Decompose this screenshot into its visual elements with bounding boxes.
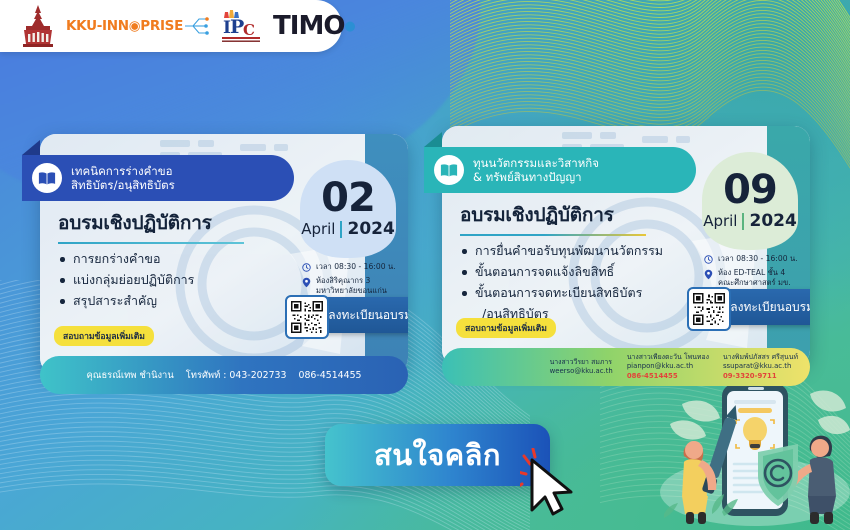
venue-line-2: คณะศึกษาศาสตร์ มข.: [718, 278, 791, 287]
card-patent-drafting[interactable]: อบรมเชิงปฏิบัติการ การยกร่างคำขอ แบ่งกลุ…: [40, 134, 408, 374]
ip-illustration: [660, 372, 850, 530]
clock-icon: [302, 263, 311, 272]
ribbon-line-2: สิทธิบัตร/อนุสิทธิบัตร: [71, 178, 175, 192]
event-time-row: เวลา 08:30 - 16:00 น.: [704, 254, 808, 264]
cta-button[interactable]: สนใจคลิก: [325, 424, 550, 486]
contact-email: pianpon@kku.ac.th: [627, 362, 709, 371]
list-item: สรุปสาระสำคัญ: [58, 293, 290, 309]
qr-code-icon: [693, 293, 725, 325]
event-day: 09: [723, 171, 777, 209]
contact-name: นางสาววีรยา สมภาร: [550, 358, 613, 367]
event-month: April: [703, 212, 737, 230]
event-time: เวลา 08:30 - 16:00 น.: [316, 262, 396, 272]
innoprise-label-2: PRISE: [140, 18, 183, 34]
list-item: แบ่งกลุ่มย่อยปฏิบัติการ: [58, 272, 290, 288]
event-time: เวลา 08:30 - 16:00 น.: [718, 254, 798, 264]
ribbon-line-1: ทุนนวัตกรรมและวิสาหกิจ: [473, 156, 599, 170]
clock-icon: [704, 255, 713, 264]
contact-email: weerso@kku.ac.th: [550, 367, 613, 376]
timo-logo: TIMO●: [273, 11, 355, 41]
ribbon-text: เทคนิคการร่างคำขอ สิทธิบัตร/อนุสิทธิบัตร: [71, 164, 175, 193]
contact-tel: 086-4514455: [627, 372, 709, 381]
svg-text:C: C: [243, 21, 255, 39]
event-venue-row: ห้อง ED-TEAL ชั้น 4 คณะศึกษาศาสตร์ มข.: [704, 268, 808, 287]
more-info-tag: สอบถามข้อมูลเพิ่มเติม: [54, 326, 154, 346]
ribbon-line-2: & ทรัพย์สินทางปัญญา: [473, 170, 599, 184]
kku-seal-icon: [20, 4, 56, 48]
list-item: การยื่นคำขอรับทุนพัฒนานวัตกรรม: [460, 243, 692, 259]
cta-label: สนใจคลิก: [374, 432, 501, 478]
footer-phone-label: โทรศัพท์ : 043-202733: [186, 368, 287, 383]
title-underline: [460, 234, 646, 236]
book-icon: [32, 163, 62, 193]
footer-phone-secondary: 086-4514455: [298, 370, 361, 381]
event-day: 02: [321, 179, 375, 217]
book-icon: [434, 155, 464, 185]
innoprise-circuit-icon: [183, 14, 209, 38]
contact-block: นางพิมพ์ปภัสสร ศรีสุนนท์ ssuparat@kku.ac…: [723, 353, 798, 381]
event-venue-row: ห้องสิริคุณากร 3 มหาวิทยาลัยขอนแก่น: [302, 276, 406, 295]
contact-name: นางสาวเพียงตะวัน โพนทอง: [627, 353, 709, 362]
qr-code[interactable]: [687, 287, 731, 331]
event-year: 2024: [749, 211, 796, 231]
location-pin-icon: [302, 277, 311, 288]
card-title: อบรมเชิงปฏิบัติการ: [460, 200, 692, 230]
card-body: อบรมเชิงปฏิบัติการ การยื่นคำขอรับทุนพัฒน…: [460, 200, 692, 327]
more-info-tag: สอบถามข้อมูลเพิ่มเติม: [456, 318, 556, 338]
contact-email: ssuparat@kku.ac.th: [723, 362, 798, 371]
list-item: ขั้นตอนการจดแจ้งลิขสิทธิ์: [460, 264, 692, 280]
event-venue: ห้อง ED-TEAL ชั้น 4 คณะศึกษาศาสตร์ มข.: [718, 268, 791, 287]
footer-contact-line: คุณธรณ์เทพ ชำนิงาน โทรศัพท์ : 043-202733…: [86, 368, 361, 383]
event-date-badge: 02 April 2024: [300, 160, 396, 258]
list-item: ขั้นตอนการจดทะเบียนสิทธิบัตร: [460, 285, 692, 301]
card-footer-bar: คุณธรณ์เทพ ชำนิงาน โทรศัพท์ : 043-202733…: [40, 356, 408, 394]
venue-line-1: ห้องสิริคุณากร 3: [316, 276, 370, 285]
card-body: อบรมเชิงปฏิบัติการ การยกร่างคำขอ แบ่งกลุ…: [58, 208, 290, 314]
footer-contact-name: คุณธรณ์เทพ ชำนิงาน: [86, 368, 173, 383]
contact-tel: 09-3320-9711: [723, 372, 798, 381]
timo-label: TIMO: [273, 11, 344, 41]
logo-bar: KKU-INN◉PRISE I P C: [0, 0, 342, 52]
event-year: 2024: [347, 219, 394, 239]
poster-canvas: KKU-INN◉PRISE I P C: [0, 0, 850, 530]
ribbon-line-1: เทคนิคการร่างคำขอ: [71, 164, 175, 178]
kku-innoprise-logo: KKU-INN◉PRISE: [66, 13, 209, 39]
card-title: อบรมเชิงปฏิบัติการ: [58, 208, 290, 238]
event-venue: ห้องสิริคุณากร 3 มหาวิทยาลัยขอนแก่น: [316, 276, 387, 295]
location-pin-icon: [704, 269, 713, 280]
venue-line-1: ห้อง ED-TEAL ชั้น 4: [718, 268, 785, 277]
qr-code-icon: [291, 301, 323, 333]
ipc-logo-icon: I P C: [219, 6, 263, 46]
list-item: การยกร่างคำขอ: [58, 251, 290, 267]
event-time-row: เวลา 08:30 - 16:00 น.: [302, 262, 406, 272]
title-underline: [58, 242, 244, 244]
contact-name: นางพิมพ์ปภัสสร ศรีสุนนท์: [723, 353, 798, 362]
lightbulb-icon: [743, 417, 767, 443]
card-bullet-list: การยกร่างคำขอ แบ่งกลุ่มย่อยปฏิบัติการ สร…: [58, 251, 290, 309]
mouse-cursor-icon: [520, 448, 580, 520]
card-bullet-list: การยื่นคำขอรับทุนพัฒนานวัตกรรม ขั้นตอนกา…: [460, 243, 692, 322]
register-button-label: ลงทะเบียนอบรม: [730, 298, 810, 317]
date-separator: [340, 221, 342, 238]
contact-block: นางสาวเพียงตะวัน โพนทอง pianpon@kku.ac.t…: [627, 353, 709, 381]
card-ribbon-header: เทคนิคการร่างคำขอ สิทธิบัตร/อนุสิทธิบัตร: [22, 155, 294, 201]
event-meta: เวลา 08:30 - 16:00 น. ห้องสิริคุณากร 3 ม…: [302, 262, 406, 299]
card-ribbon-header: ทุนนวัตกรรมและวิสาหกิจ & ทรัพย์สินทางปัญ…: [424, 147, 696, 193]
innoprise-label-1: KKU-INN: [66, 18, 129, 34]
ribbon-text: ทุนนวัตกรรมและวิสาหกิจ & ทรัพย์สินทางปัญ…: [473, 156, 599, 185]
card-footer-bar: นางสาววีรยา สมภาร weerso@kku.ac.th นางสา…: [442, 348, 810, 386]
register-button-label: ลงทะเบียนอบรม: [328, 306, 408, 325]
event-month: April: [301, 220, 335, 238]
contact-block: นางสาววีรยา สมภาร weerso@kku.ac.th: [550, 358, 613, 377]
date-separator: [742, 213, 744, 230]
event-meta: เวลา 08:30 - 16:00 น. ห้อง ED-TEAL ชั้น …: [704, 254, 808, 291]
qr-code[interactable]: [285, 295, 329, 339]
event-date-badge: 09 April 2024: [702, 152, 798, 250]
venue-line-2: มหาวิทยาลัยขอนแก่น: [316, 286, 387, 295]
card-innovation-fund[interactable]: อบรมเชิงปฏิบัติการ การยื่นคำขอรับทุนพัฒน…: [442, 126, 810, 366]
